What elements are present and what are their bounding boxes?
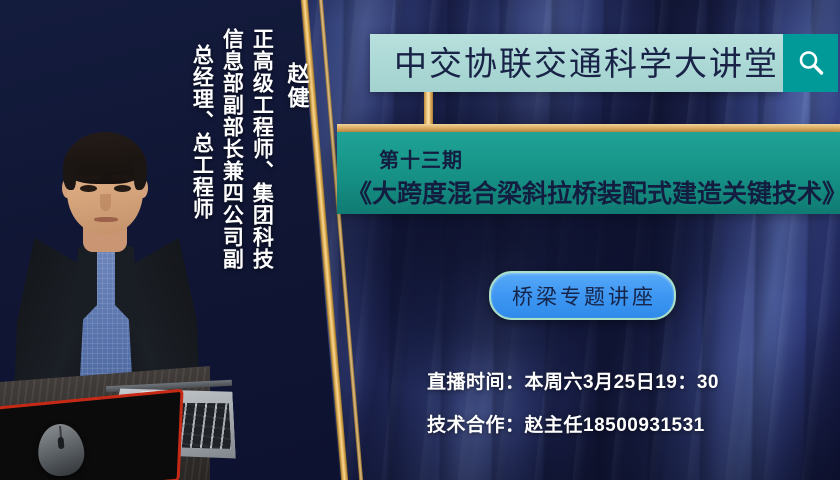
category-badge-label: 桥梁专题讲座 (509, 281, 656, 311)
speaker-title-line-3: 总经理、总工程师 (191, 44, 212, 220)
portrait-eye-right (114, 185, 131, 192)
search-button[interactable] (783, 34, 838, 92)
portrait-nose (100, 194, 111, 211)
portrait-hair-side-left (63, 158, 76, 190)
speaker-title-line-2: 信息部副部长兼四公司副 (221, 28, 242, 270)
speaker-title-line-1: 正高级工程师、集团科技 (251, 28, 272, 270)
webinar-poster: 总经理、总工程师 信息部副部长兼四公司副 正高级工程师、集团科技 赵健 中交协联… (0, 0, 840, 480)
portrait-hair-side-right (134, 158, 147, 190)
speaker-name: 赵健 (285, 62, 307, 110)
mouse-scroll-wheel (57, 437, 64, 449)
cooperation-contact-text: 技术合作：赵主任18500931531 (427, 410, 705, 437)
header-title-bar: 中交协联交通科学大讲堂 (370, 34, 783, 92)
subtitle-banner: 第十三期 《大跨度混合梁斜拉桥装配式建造关键技术》 (337, 132, 840, 214)
issue-number: 第十三期 (379, 144, 463, 173)
page-title: 中交协联交通科学大讲堂 (370, 47, 779, 80)
category-badge[interactable]: 桥梁专题讲座 (489, 271, 676, 320)
portrait-eye-left (80, 185, 97, 192)
live-time-text: 直播时间：本周六3月25日19：30 (427, 367, 719, 394)
portrait-mouth (94, 217, 118, 222)
search-icon (796, 48, 826, 78)
lecture-topic: 《大跨度混合梁斜拉桥装配式建造关键技术》 (347, 174, 830, 210)
